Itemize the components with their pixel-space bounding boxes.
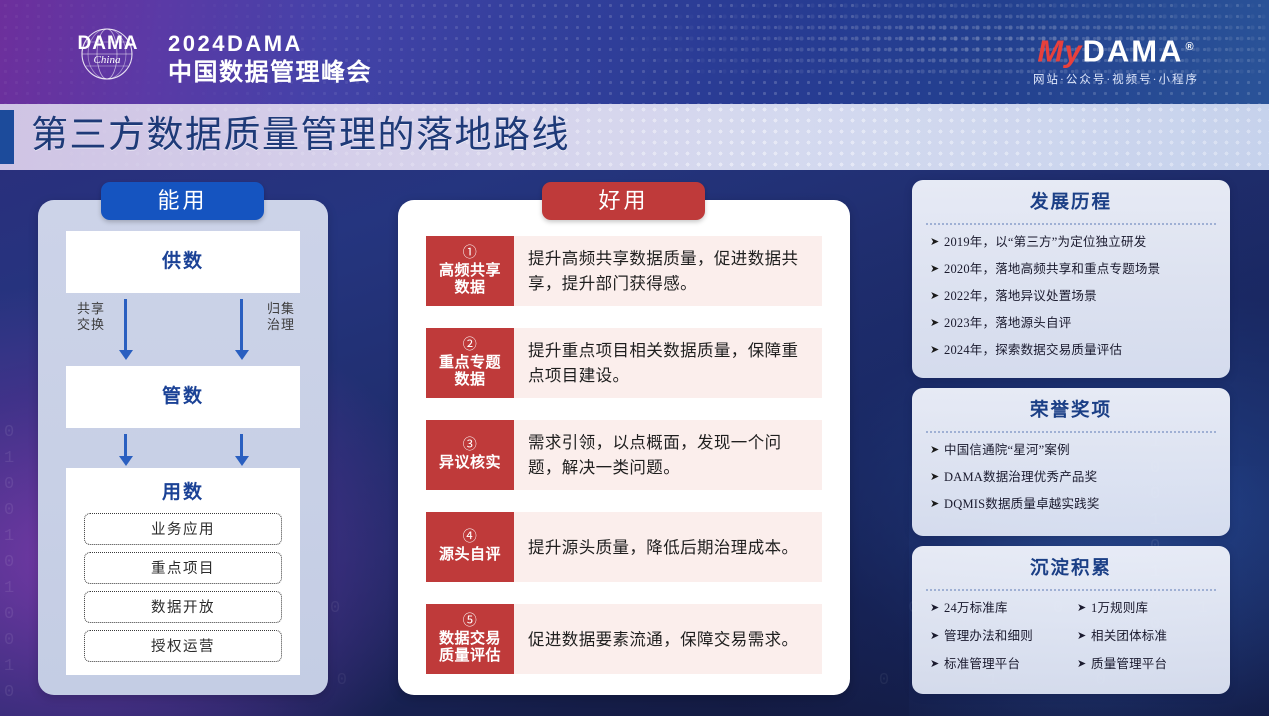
scenario-tag-2: ② 重点专题 数据 — [426, 328, 514, 398]
awards-card-divider — [926, 431, 1216, 433]
assets-item: ➤ 标准管理平台 — [930, 656, 1077, 672]
left-flow-inner: 供数 共享 交换 归集 治理 管数 用数 业务应用 重点项目 数据开放 授权运营 — [66, 231, 300, 675]
assets-item: ➤ 管理办法和细则 — [930, 628, 1077, 644]
awards-item: ➤ 中国信通院“星河”案例 — [930, 442, 1222, 458]
awards-item-label: DQMIS数据质量卓越实践奖 — [944, 496, 1100, 512]
assets-item: ➤ 相关团体标准 — [1077, 628, 1224, 644]
arrow-bullet-icon: ➤ — [1077, 656, 1091, 672]
awards-list: ➤ 中国信通院“星河”案例 ➤ DAMA数据治理优秀产品奖 ➤ DQMIS数据质… — [912, 442, 1230, 512]
dama-china-logo: DAMA China — [64, 28, 150, 80]
assets-item: ➤ 24万标准库 — [930, 600, 1077, 616]
mydama-channels-sub: 网站·公众号·视频号·小程序 — [1033, 71, 1199, 87]
history-item: ➤ 2019年，以“第三方”为定位独立研发 — [930, 234, 1222, 250]
arrow-bullet-icon: ➤ — [930, 442, 944, 458]
scenario-desc-5: 促进数据要素流通，保障交易需求。 — [514, 604, 822, 674]
assets-item-label: 24万标准库 — [944, 600, 1008, 616]
slide-root: 0 1 0 0 1 0 1 0 0 1 0 0 1 0 1 0 0 1 1 0 … — [0, 0, 1269, 716]
summit-year-line: 2024DAMA — [168, 32, 372, 56]
scenario-tag-3-line1: 异议核实 — [439, 455, 501, 472]
use-item-key-project[interactable]: 重点项目 — [84, 552, 282, 584]
arrow-label-collect-line2: 治理 — [267, 317, 295, 332]
middle-scenarios-card: ① 高频共享 数据 提升高频共享数据质量，促进数据共享，提升部门获得感。 ② 重… — [398, 200, 850, 695]
history-item-label: 2023年，落地源头自评 — [944, 315, 1071, 331]
dama-china-sub: China — [64, 54, 150, 66]
scenario-number-2: ② — [463, 338, 478, 354]
assets-card-divider — [926, 589, 1216, 591]
scenario-tag-2-line1: 重点专题 — [439, 355, 501, 372]
header-banner: DAMA China 2024DAMA 中国数据管理峰会 MyDAMA® 网站·… — [0, 0, 1269, 104]
history-card-divider — [926, 223, 1216, 225]
flow-arrow-manage-to-use-left — [124, 434, 127, 457]
arrow-label-share-line2: 交换 — [77, 317, 105, 332]
scenario-desc-2: 提升重点项目相关数据质量，保障重点项目建设。 — [514, 328, 822, 398]
scenario-number-3: ③ — [463, 438, 478, 454]
dama-wordmark: DAMA — [70, 33, 146, 55]
flow-arrow-manage-to-use-right — [240, 434, 243, 457]
use-item-data-open[interactable]: 数据开放 — [84, 591, 282, 623]
awards-item: ➤ DQMIS数据质量卓越实践奖 — [930, 496, 1222, 512]
history-item: ➤ 2022年，落地异议处置场景 — [930, 288, 1222, 304]
use-item-authorized-ops[interactable]: 授权运营 — [84, 630, 282, 662]
history-item: ➤ 2023年，落地源头自评 — [930, 315, 1222, 331]
scenario-tag-5: ⑤ 数据交易 质量评估 — [426, 604, 514, 674]
flow-arrow-supply-to-manage-left — [124, 299, 127, 351]
arrow-bullet-icon: ➤ — [1077, 628, 1091, 644]
scenario-number-1: ① — [463, 246, 478, 262]
mydama-my-text: My — [1037, 33, 1082, 68]
scenario-tag-1: ① 高频共享 数据 — [426, 236, 514, 306]
assets-item-label: 管理办法和细则 — [944, 628, 1033, 644]
title-accent-bar — [0, 110, 14, 164]
scenario-tag-4: ④ 源头自评 — [426, 512, 514, 582]
badge-haoyong: 好用 — [542, 182, 705, 220]
assets-item-label: 相关团体标准 — [1091, 628, 1167, 644]
history-item: ➤ 2020年，落地高频共享和重点专题场景 — [930, 261, 1222, 277]
history-item-label: 2022年，落地异议处置场景 — [944, 288, 1097, 304]
history-card: 发展历程 ➤ 2019年，以“第三方”为定位独立研发 ➤ 2020年，落地高频共… — [912, 180, 1230, 378]
awards-card: 荣誉奖项 ➤ 中国信通院“星河”案例 ➤ DAMA数据治理优秀产品奖 ➤ DQM… — [912, 388, 1230, 536]
assets-item: ➤ 1万规则库 — [1077, 600, 1224, 616]
assets-item: ➤ 质量管理平台 — [1077, 656, 1224, 672]
scenario-desc-4: 提升源头质量，降低后期治理成本。 — [514, 512, 822, 582]
arrow-label-collect-line1: 归集 — [267, 301, 295, 316]
arrow-bullet-icon: ➤ — [930, 628, 944, 644]
assets-item-label: 1万规则库 — [1091, 600, 1148, 616]
flow-box-supply: 供数 — [66, 231, 300, 293]
scenario-tag-1-line2: 数据 — [454, 280, 485, 297]
flow-box-manage: 管数 — [66, 366, 300, 428]
assets-item-label: 质量管理平台 — [1091, 656, 1167, 672]
arrow-bullet-icon: ➤ — [930, 656, 944, 672]
awards-card-title: 荣誉奖项 — [912, 398, 1230, 424]
arrow-bullet-icon: ➤ — [930, 261, 944, 277]
scenario-number-5: ⑤ — [463, 614, 478, 630]
arrow-label-collect-govern: 归集 治理 — [262, 301, 300, 333]
arrow-bullet-icon: ➤ — [930, 315, 944, 331]
scenario-tag-1-line1: 高频共享 — [439, 263, 501, 280]
arrow-label-share-exchange: 共享 交换 — [72, 301, 110, 333]
assets-grid: ➤ 24万标准库 ➤ 1万规则库 ➤ 管理办法和细则 ➤ 相关团体标准 ➤ 标准… — [912, 600, 1230, 684]
arrow-bullet-icon: ➤ — [930, 600, 944, 616]
awards-item: ➤ DAMA数据治理优秀产品奖 — [930, 469, 1222, 485]
scenario-tag-3: ③ 异议核实 — [426, 420, 514, 490]
mydama-logo: MyDAMA® 网站·公众号·视频号·小程序 — [1033, 30, 1199, 87]
flow-box-use-title: 用数 — [66, 480, 300, 506]
history-item-label: 2024年，探索数据交易质量评估 — [944, 342, 1122, 358]
history-list: ➤ 2019年，以“第三方”为定位独立研发 ➤ 2020年，落地高频共享和重点专… — [912, 234, 1230, 358]
history-card-title: 发展历程 — [912, 190, 1230, 216]
arrow-bullet-icon: ➤ — [930, 288, 944, 304]
scenario-tag-5-line2: 质量评估 — [439, 648, 501, 665]
scenario-row-1[interactable]: ① 高频共享 数据 提升高频共享数据质量，促进数据共享，提升部门获得感。 — [426, 236, 822, 306]
arrow-label-share-line1: 共享 — [77, 301, 105, 316]
scenario-tag-4-line1: 源头自评 — [439, 547, 501, 564]
history-item: ➤ 2024年，探索数据交易质量评估 — [930, 342, 1222, 358]
scenario-row-5[interactable]: ⑤ 数据交易 质量评估 促进数据要素流通，保障交易需求。 — [426, 604, 822, 674]
registered-mark-icon: ® — [1185, 41, 1194, 53]
arrow-bullet-icon: ➤ — [930, 234, 944, 250]
scenario-desc-3: 需求引领，以点概面，发现一个问题，解决一类问题。 — [514, 420, 822, 490]
flow-box-use: 用数 业务应用 重点项目 数据开放 授权运营 — [66, 468, 300, 675]
scenario-row-3[interactable]: ③ 异议核实 需求引领，以点概面，发现一个问题，解决一类问题。 — [426, 420, 822, 490]
summit-name-line: 中国数据管理峰会 — [168, 58, 372, 88]
arrow-bullet-icon: ➤ — [1077, 600, 1091, 616]
assets-card: 沉淀积累 ➤ 24万标准库 ➤ 1万规则库 ➤ 管理办法和细则 ➤ 相关团体标准… — [912, 546, 1230, 694]
scenario-row-2[interactable]: ② 重点专题 数据 提升重点项目相关数据质量，保障重点项目建设。 — [426, 328, 822, 398]
left-flow-card: 供数 共享 交换 归集 治理 管数 用数 业务应用 重点项目 数据开放 授权运营 — [38, 200, 328, 695]
flow-arrow-supply-to-manage-right — [240, 299, 243, 351]
awards-item-label: 中国信通院“星河”案例 — [944, 442, 1070, 458]
scenario-number-4: ④ — [463, 530, 478, 546]
scenario-desc-1: 提升高频共享数据质量，促进数据共享，提升部门获得感。 — [514, 236, 822, 306]
page-title: 第三方数据质量管理的落地路线 — [31, 112, 570, 160]
scenario-row-4[interactable]: ④ 源头自评 提升源头质量，降低后期治理成本。 — [426, 512, 822, 582]
awards-item-label: DAMA数据治理优秀产品奖 — [944, 469, 1097, 485]
badge-nengyong: 能用 — [101, 182, 264, 220]
assets-card-title: 沉淀积累 — [912, 556, 1230, 582]
arrow-bullet-icon: ➤ — [930, 342, 944, 358]
assets-item-label: 标准管理平台 — [944, 656, 1020, 672]
summit-lockup: 2024DAMA 中国数据管理峰会 — [168, 32, 372, 88]
history-item-label: 2019年，以“第三方”为定位独立研发 — [944, 234, 1146, 250]
arrow-bullet-icon: ➤ — [930, 469, 944, 485]
mydama-dama-text: DAMA — [1082, 33, 1183, 68]
mydama-wordmark: MyDAMA® — [1033, 30, 1199, 68]
arrow-bullet-icon: ➤ — [930, 496, 944, 512]
use-item-business-app[interactable]: 业务应用 — [84, 513, 282, 545]
scenario-tag-5-line1: 数据交易 — [439, 631, 501, 648]
history-item-label: 2020年，落地高频共享和重点专题场景 — [944, 261, 1160, 277]
scenario-tag-2-line2: 数据 — [454, 372, 485, 389]
